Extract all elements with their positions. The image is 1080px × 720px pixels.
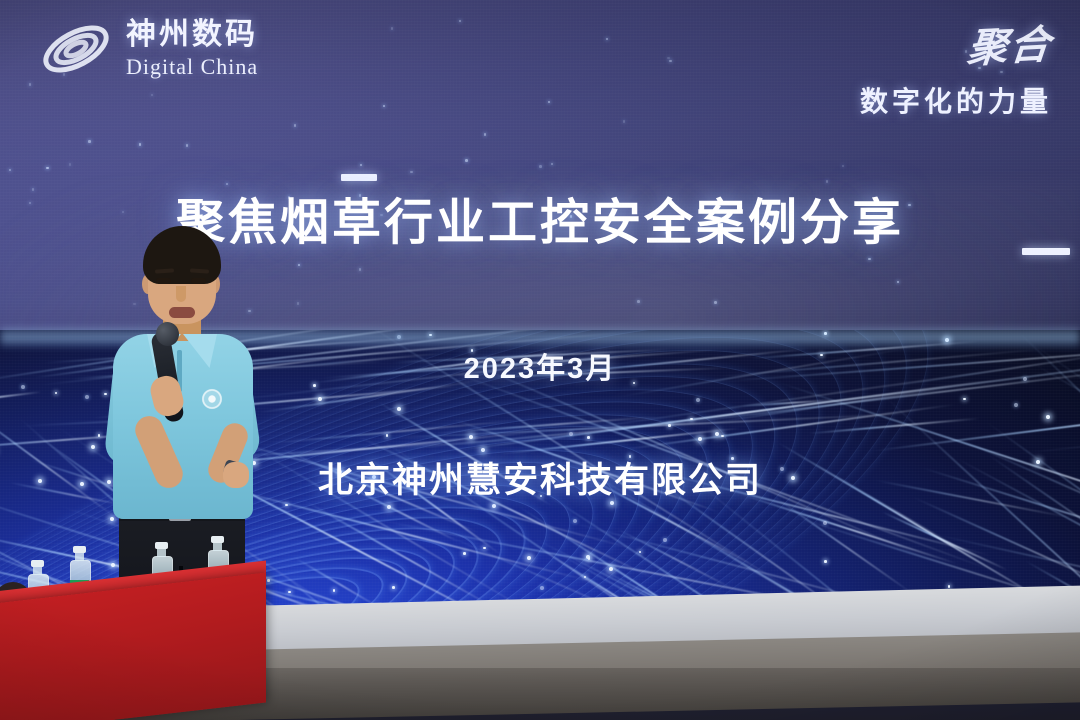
particle-dot xyxy=(669,60,672,63)
conference-photo: 神州数码 Digital China 聚合 数字化的力量 聚焦烟草行业工控安全案… xyxy=(0,0,1080,720)
event-brand-right: 聚合 数字化的力量 xyxy=(860,14,1052,120)
digital-china-logo: 神州数码 Digital China xyxy=(38,18,258,80)
bottle-cap xyxy=(31,560,44,567)
speaker-eye-left xyxy=(156,278,171,284)
particle-dot xyxy=(714,301,717,304)
panel-table xyxy=(0,584,280,720)
particle-dot xyxy=(383,105,386,108)
particle-dot xyxy=(297,302,300,305)
speaker-eye-right xyxy=(191,278,206,284)
bottle-cap xyxy=(211,536,224,543)
particle-dot xyxy=(465,159,468,162)
particle-dot xyxy=(539,165,542,168)
bottle-cap xyxy=(155,542,168,549)
speaker-chest-logo-icon xyxy=(199,386,225,412)
bottle-cap xyxy=(73,546,86,553)
brand-subtitle: 数字化的力量 xyxy=(860,80,1052,120)
particle-dot xyxy=(88,140,91,143)
particle-dot xyxy=(69,163,72,166)
decorative-dash-top xyxy=(341,174,377,181)
particle-dot xyxy=(623,120,626,123)
logo-wordmark: 神州数码 Digital China xyxy=(126,20,258,78)
particle-dot xyxy=(294,124,297,127)
logo-english-name: Digital China xyxy=(126,56,258,78)
speaker-hair xyxy=(143,226,221,284)
speaker-hand-right xyxy=(223,462,249,488)
digital-china-swirl-logo-icon xyxy=(38,18,114,80)
particle-dot xyxy=(637,300,640,303)
particle-dot xyxy=(139,143,142,146)
speaker-nose xyxy=(176,286,186,302)
speaker-mouth xyxy=(169,307,195,318)
brand-calligraphy: 聚合 xyxy=(965,12,1055,74)
particle-dot xyxy=(667,57,670,60)
logo-chinese-name: 神州数码 xyxy=(126,20,258,50)
particle-dot xyxy=(391,27,394,30)
